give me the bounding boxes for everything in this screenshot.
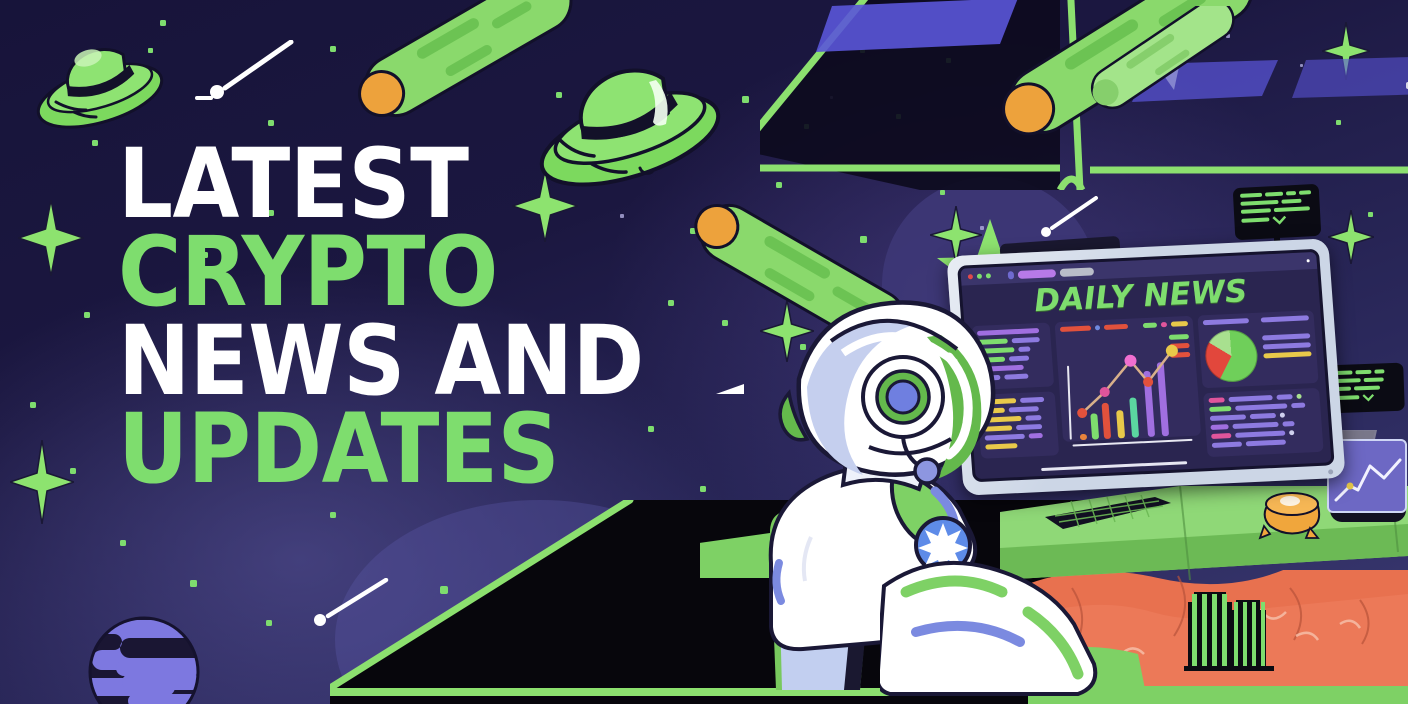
right-panel-pie[interactable] — [1197, 310, 1319, 388]
window-close-dot[interactable] — [968, 274, 973, 279]
chart-plot-area — [1060, 334, 1196, 450]
astronaut-lower-body — [880, 546, 1110, 704]
right-panel-list[interactable] — [1203, 388, 1324, 457]
ufo-large-left — [30, 26, 170, 136]
page-title: LATEST CRYPTO NEWS AND UPDATES — [118, 140, 644, 493]
pie-chart — [1203, 329, 1259, 383]
comet-small-upper — [1062, 6, 1242, 116]
sparkle-star-left-upper — [18, 200, 84, 276]
headline-line-2: CRYPTO — [118, 228, 644, 316]
window-maximize-dot[interactable] — [986, 273, 991, 278]
cursor-icon — [1272, 216, 1287, 227]
side-display-top-right[interactable] — [1233, 184, 1322, 240]
headline-line-4: UPDATES — [118, 405, 644, 493]
browser-tab[interactable] — [1018, 269, 1057, 279]
chart-x-axis — [1072, 439, 1192, 447]
cursor-icon-2 — [1362, 394, 1374, 403]
headline-line-3: NEWS AND — [118, 317, 644, 405]
sparkle-star-display-right — [1328, 210, 1374, 264]
window-minimize-dot[interactable] — [977, 274, 982, 279]
sparkle-star-left-lower — [10, 440, 74, 524]
chart-line-series — [1067, 336, 1191, 425]
chart-bar — [1079, 434, 1086, 440]
tab-indicator-dot[interactable] — [1008, 271, 1015, 279]
coffee-mug — [1258, 486, 1328, 542]
dashboard-chart-panel[interactable] — [1054, 316, 1201, 442]
poster-canvas: DAILY NEWS — [0, 0, 1408, 704]
dashboard-right-column — [1197, 310, 1322, 435]
menu-dot[interactable] — [1307, 259, 1310, 262]
comet-top-left — [325, 0, 575, 124]
shooting-star-top-left — [195, 40, 295, 100]
headline-line-1: LATEST — [118, 140, 644, 228]
banded-planet — [88, 616, 200, 704]
address-bar[interactable] — [1060, 267, 1095, 277]
shooting-star-mid-right — [1030, 196, 1100, 240]
